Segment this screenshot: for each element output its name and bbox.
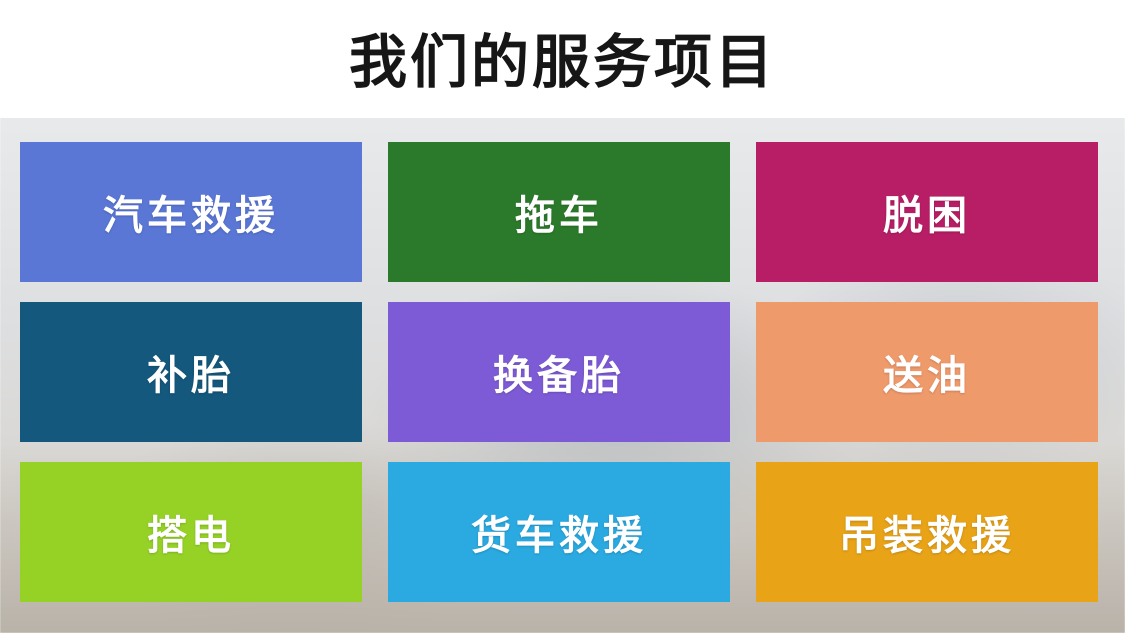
service-tile-spare-tire[interactable]: 换备胎 bbox=[388, 302, 730, 442]
service-tile-car-rescue[interactable]: 汽车救援 bbox=[20, 142, 362, 282]
service-tile-label: 吊装救援 bbox=[839, 503, 1015, 561]
service-tile-label: 脱困 bbox=[883, 183, 971, 241]
service-tile-fuel-delivery[interactable]: 送油 bbox=[756, 302, 1098, 442]
service-tile-label: 汽车救援 bbox=[103, 183, 279, 241]
service-poster: 我们的服务项目 汽车救援 拖车 脱困 补胎 换备胎 送油 搭电 货车救援 吊装救… bbox=[0, 0, 1125, 633]
service-tile-truck-rescue[interactable]: 货车救援 bbox=[388, 462, 730, 602]
service-tile-crane-rescue[interactable]: 吊装救援 bbox=[756, 462, 1098, 602]
title-band: 我们的服务项目 bbox=[0, 0, 1125, 118]
service-tile-jump-start[interactable]: 搭电 bbox=[20, 462, 362, 602]
page-title: 我们的服务项目 bbox=[349, 26, 776, 92]
service-tile-label: 搭电 bbox=[147, 503, 235, 561]
service-grid: 汽车救援 拖车 脱困 补胎 换备胎 送油 搭电 货车救援 吊装救援 bbox=[20, 142, 1105, 602]
service-tile-label: 补胎 bbox=[147, 343, 235, 401]
service-tile-label: 送油 bbox=[883, 343, 971, 401]
service-tile-tire-repair[interactable]: 补胎 bbox=[20, 302, 362, 442]
service-tile-label: 拖车 bbox=[515, 183, 603, 241]
service-tile-label: 换备胎 bbox=[493, 343, 625, 401]
service-tile-label: 货车救援 bbox=[471, 503, 647, 561]
service-tile-towing[interactable]: 拖车 bbox=[388, 142, 730, 282]
service-tile-extrication[interactable]: 脱困 bbox=[756, 142, 1098, 282]
